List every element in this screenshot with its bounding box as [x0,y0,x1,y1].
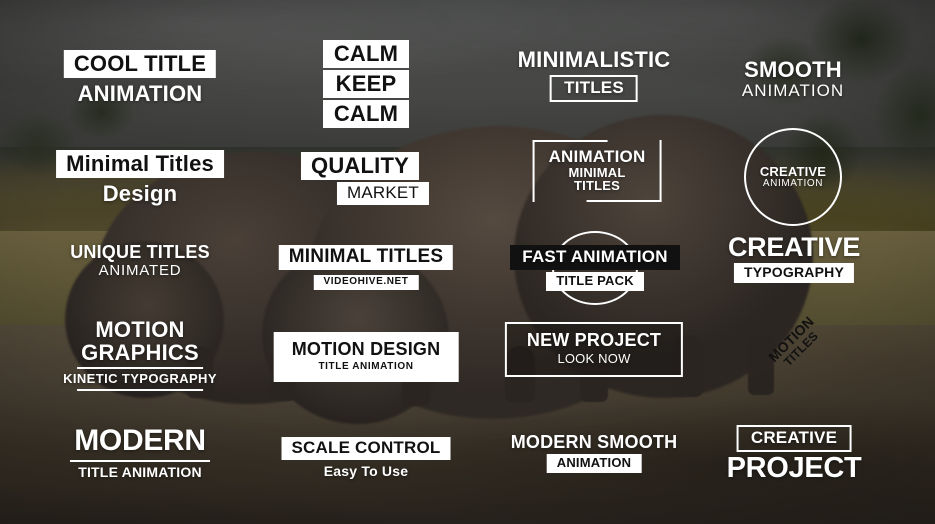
minimal-titles-videohive-line2: VIDEOHIVE.NET [313,275,418,291]
preview-stage: COOL TITLE ANIMATION CALM KEEP CALM MINI… [0,0,935,524]
creative-project-line1: CREATIVE [737,425,851,452]
scale-control-line1: SCALE CONTROL [282,437,451,460]
animation-minimal-line1: ANIMATION [549,148,646,166]
creative-typography-line1: CREATIVE [728,233,860,261]
circle-badge: CREATIVE ANIMATION [741,125,845,229]
title-card-quality-market[interactable]: QUALITY MARKET [311,152,429,205]
motion-design-line1: MOTION DESIGN [292,340,441,359]
title-card-modern-smooth[interactable]: MODERN SMOOTH ANIMATION [511,433,678,473]
new-project-box: NEW PROJECT LOOK NOW [505,322,683,377]
quality-line2: MARKET [337,182,429,205]
title-card-fast-animation[interactable]: FAST ANIMATION TITLE PACK [530,228,660,308]
title-card-new-project[interactable]: NEW PROJECT LOOK NOW [505,322,683,377]
title-card-minimalistic[interactable]: MINIMALISTIC TITLES [518,48,671,102]
smooth-line2: ANIMATION [742,82,844,100]
bracket-left-segment [533,140,535,202]
calm-line1: CALM [323,40,409,68]
divider [70,460,210,462]
calm-line3: CALM [323,100,409,128]
motion-graphics-line1: MOTION [63,318,217,341]
modern-smooth-line1: MODERN SMOOTH [511,433,678,452]
title-card-creative-typography[interactable]: CREATIVE TYPOGRAPHY [728,233,860,283]
minimal-titles-design-line2: Design [56,182,224,205]
bracket-frame: ANIMATION MINIMAL TITLES [533,140,662,202]
title-card-motion-design[interactable]: MOTION DESIGN TITLE ANIMATION [274,332,459,382]
motion-design-box: MOTION DESIGN TITLE ANIMATION [274,332,459,382]
bracket-top-segment [533,140,608,142]
title-card-animation-minimal-titles[interactable]: ANIMATION MINIMAL TITLES [533,140,662,202]
minimalistic-line2: TITLES [550,75,638,102]
motion-graphics-line3: KINETIC TYPOGRAPHY [63,372,217,386]
unique-titles-line1: UNIQUE TITLES [70,243,210,262]
title-card-unique-titles[interactable]: UNIQUE TITLES ANIMATED [70,243,210,279]
title-card-minimal-titles-videohive[interactable]: MINIMAL TITLES VIDEOHIVE.NET [279,245,453,290]
cool-title-line1: COOL TITLE [64,50,216,78]
divider-top [77,367,203,369]
modern-line1: MODERN [70,425,210,457]
divider-bottom [77,389,203,391]
bracket-right-segment [659,140,661,202]
title-card-calm-keep-calm[interactable]: CALM KEEP CALM [323,40,409,128]
title-card-motion-titles[interactable]: MOTION TITLES [749,297,843,396]
modern-smooth-line2: ANIMATION [547,454,642,473]
unique-titles-line2: ANIMATED [70,263,210,279]
title-card-smooth[interactable]: SMOOTH ANIMATION [742,58,844,100]
motion-graphics-line2: GRAPHICS [63,341,217,364]
motion-titles-text: MOTION TITLES [730,278,863,411]
animation-minimal-line3: TITLES [549,179,646,193]
bracket-bottom-segment [587,200,662,202]
scale-control-line2: Easy To Use [282,464,451,479]
ellipse-badge: FAST ANIMATION TITLE PACK [530,228,660,308]
quality-line1: QUALITY [301,152,419,180]
smooth-line1: SMOOTH [742,58,844,81]
title-card-grid: COOL TITLE ANIMATION CALM KEEP CALM MINI… [0,0,935,524]
title-card-motion-graphics[interactable]: MOTION GRAPHICS KINETIC TYPOGRAPHY [63,318,217,394]
title-card-creative-project[interactable]: CREATIVE PROJECT [727,425,862,483]
minimalistic-line1: MINIMALISTIC [518,48,671,71]
title-card-minimal-titles-design[interactable]: Minimal Titles Design [56,150,224,205]
fast-animation-line2: TITLE PACK [546,272,644,291]
title-card-modern[interactable]: MODERN TITLE ANIMATION [70,425,210,479]
cool-title-line2: ANIMATION [64,82,216,105]
new-project-line2: LOOK NOW [527,352,661,366]
minimal-titles-design-line1: Minimal Titles [56,150,224,178]
title-card-scale-control[interactable]: SCALE CONTROL Easy To Use [282,437,451,479]
creative-animation-line2: ANIMATION [760,179,826,190]
title-card-creative-animation[interactable]: CREATIVE ANIMATION [741,125,845,229]
creative-project-line2: PROJECT [727,453,862,483]
minimal-titles-videohive-line1: MINIMAL TITLES [279,245,453,270]
creative-animation-line1: CREATIVE [760,165,826,179]
fast-animation-line1: FAST ANIMATION [510,245,679,270]
calm-line2: KEEP [323,70,409,98]
new-project-line1: NEW PROJECT [527,331,661,350]
title-card-cool-title[interactable]: COOL TITLE ANIMATION [64,50,216,105]
motion-design-line2: TITLE ANIMATION [292,362,441,373]
modern-line2: TITLE ANIMATION [70,465,210,480]
